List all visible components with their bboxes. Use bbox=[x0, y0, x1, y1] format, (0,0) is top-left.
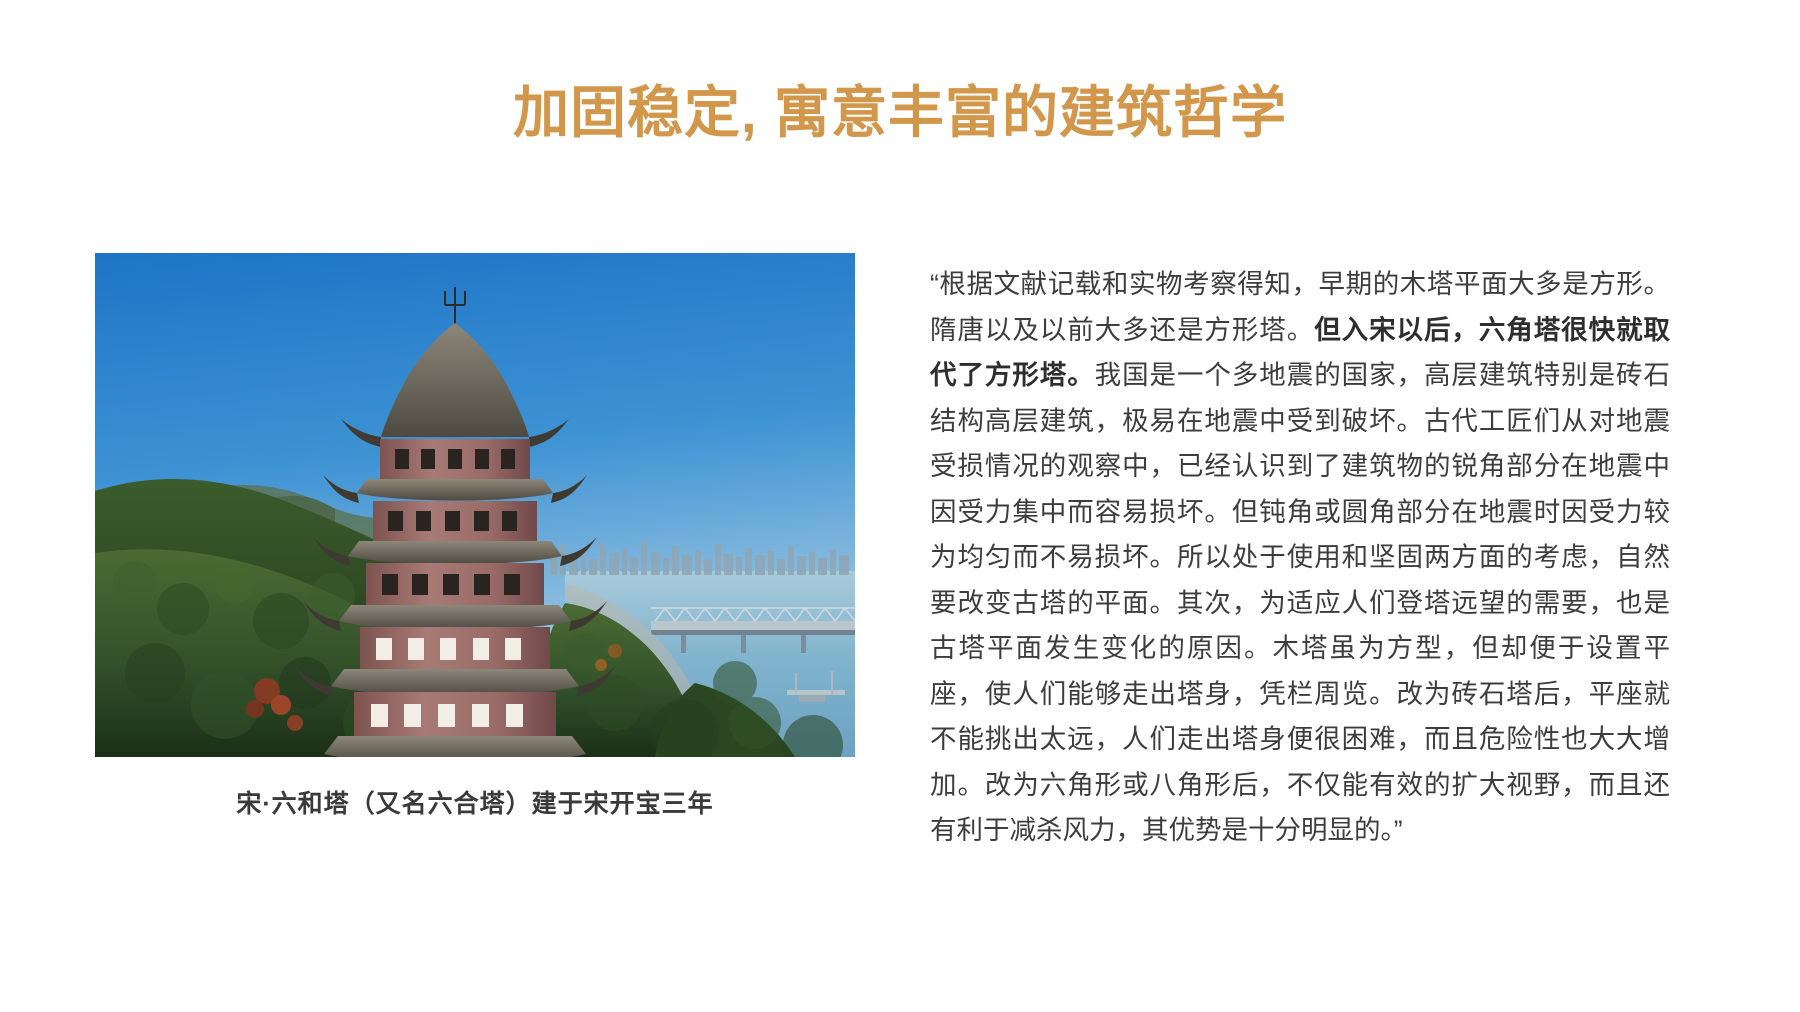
body-paragraph: “根据文献记载和实物考察得知，早期的木塔平面大多是方形。隋唐以及以前大多还是方形… bbox=[930, 262, 1670, 854]
figure-caption: 宋·六和塔（又名六合塔）建于宋开宝三年 bbox=[95, 784, 855, 820]
pagoda-photo bbox=[95, 253, 855, 757]
pagoda-photo-illustration bbox=[95, 253, 855, 757]
figure-pagoda: 宋·六和塔（又名六合塔）建于宋开宝三年 bbox=[95, 253, 855, 820]
page-title: 加固稳定, 寓意丰富的建筑哲学 bbox=[0, 78, 1800, 148]
body-run-3: 我国是一个多地震的国家，高层建筑特别是砖石结构高层建筑，极易在地震中受到破坏。古… bbox=[930, 360, 1670, 845]
slide-root: 加固稳定, 寓意丰富的建筑哲学 bbox=[0, 0, 1800, 1012]
